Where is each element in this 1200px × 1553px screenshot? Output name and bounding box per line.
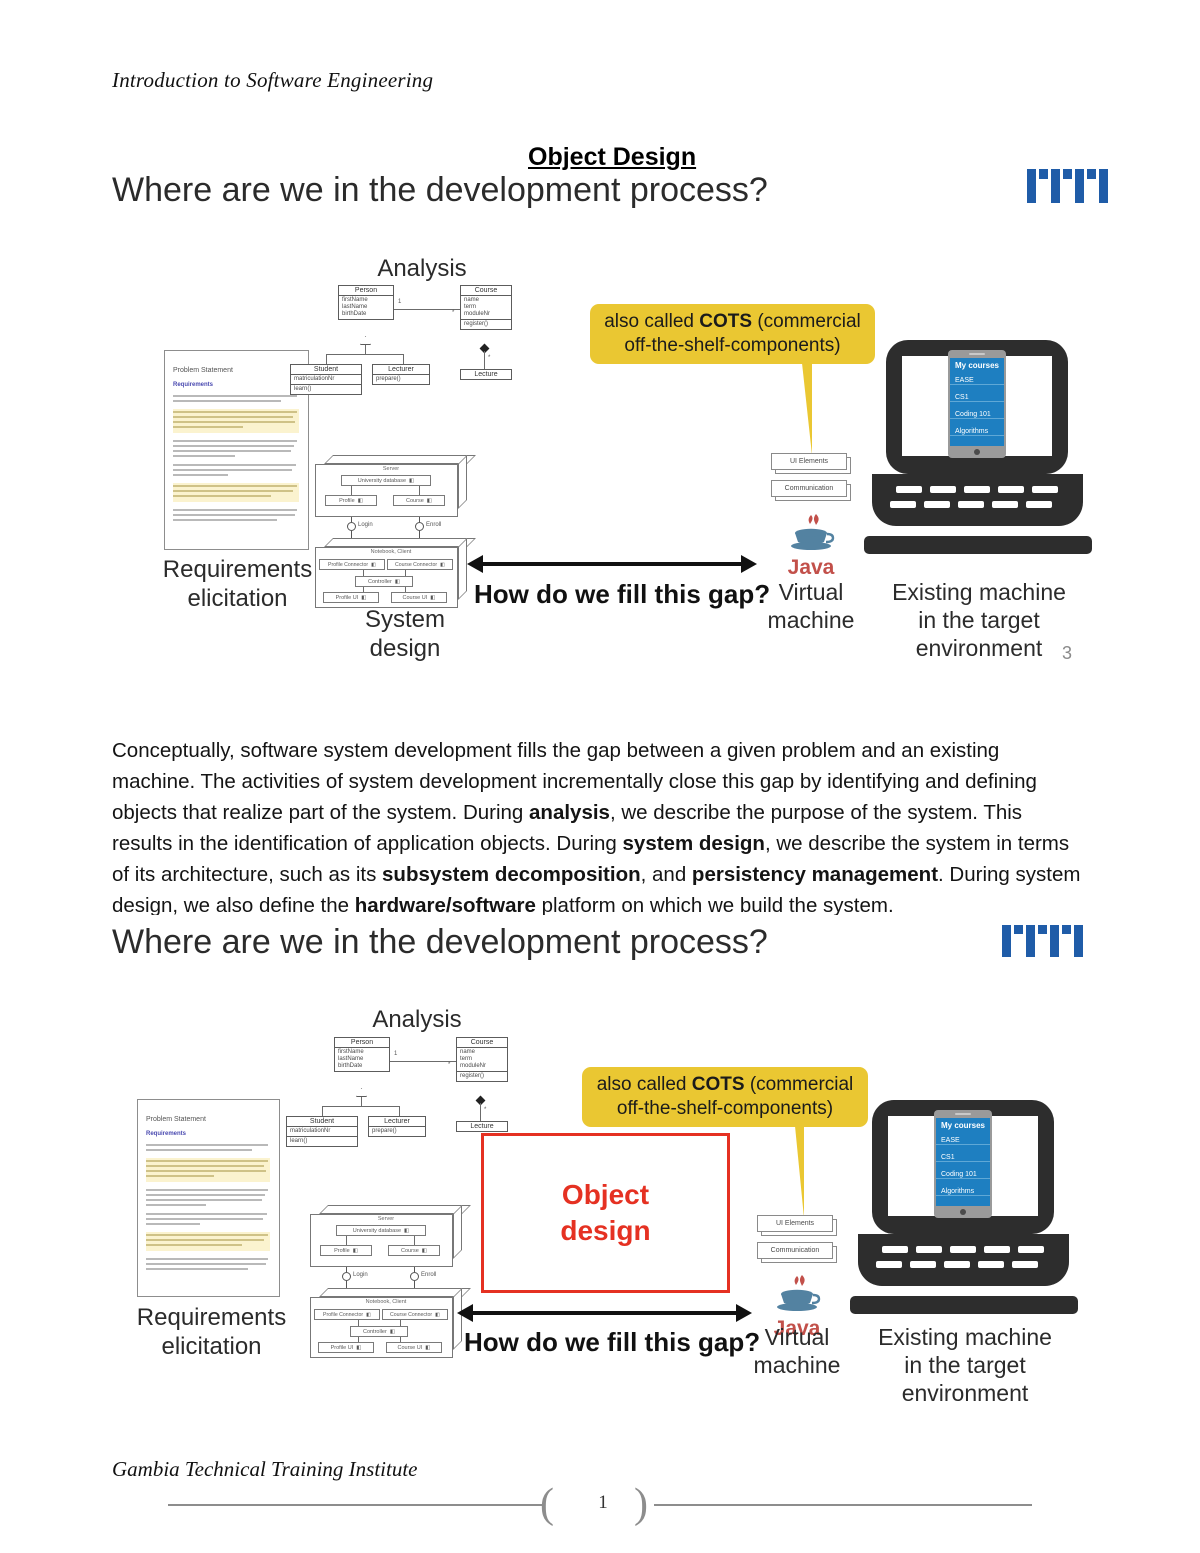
laptop-key bbox=[930, 486, 956, 493]
server-node-label: Server bbox=[315, 466, 467, 472]
uml-class-lecturer: Lecturer prepare() bbox=[368, 1116, 426, 1137]
interface-stem-lower bbox=[419, 531, 420, 538]
problem-statement-document: Problem Statement Requirements bbox=[164, 350, 309, 550]
generalization-leg-lecturer bbox=[403, 354, 404, 364]
class-operations: prepare() bbox=[369, 1127, 425, 1136]
java-wordmark: Java bbox=[774, 556, 848, 580]
component-profile: Profile ◧ bbox=[325, 495, 377, 506]
laptop-key bbox=[998, 486, 1024, 493]
problem-statement-body bbox=[146, 1144, 270, 1277]
communication-stack-2: Communication bbox=[757, 1242, 837, 1264]
laptop-key bbox=[1026, 501, 1052, 508]
callout-pre: also called bbox=[604, 311, 699, 332]
generalization-triangle bbox=[356, 1088, 367, 1097]
attr: term bbox=[464, 304, 508, 311]
dep-link-pc-ctrl bbox=[358, 1320, 359, 1326]
document-page: Introduction to Software Engineering Obj… bbox=[0, 0, 1200, 1553]
generalization-triangle bbox=[360, 336, 371, 345]
component-course-connector: Course Connector ◧ bbox=[387, 559, 453, 570]
page-fold-corner bbox=[257, 1100, 279, 1122]
caption-line-2: machine bbox=[747, 1351, 847, 1379]
op: learn() bbox=[290, 1138, 354, 1145]
caption-line-2: in the target environment bbox=[840, 1351, 1090, 1407]
class-name: Person bbox=[339, 286, 393, 296]
deployment-node-client: Notebook, Client Profile Connector ◧ Cou… bbox=[315, 538, 467, 608]
phone-course-row: CS1 bbox=[936, 1154, 990, 1162]
java-cup-icon bbox=[774, 509, 848, 555]
dep-link-cc-ctrl bbox=[405, 570, 406, 576]
dep-link-ctrl-pui bbox=[363, 587, 364, 592]
class-name: Course bbox=[461, 286, 511, 296]
attr: name bbox=[460, 1049, 504, 1056]
callout-tail bbox=[802, 363, 812, 455]
problem-statement-subtitle: Requirements bbox=[173, 382, 213, 388]
component-label: Course bbox=[401, 1248, 419, 1254]
interface-stem-lower bbox=[351, 531, 352, 538]
component-label: Course bbox=[406, 498, 424, 504]
caption-line-2: machine bbox=[761, 606, 861, 634]
provided-interface-icon: ◧ bbox=[358, 498, 363, 504]
component-course-connector: Course Connector ◧ bbox=[382, 1309, 448, 1320]
existing-machine-caption-2: Existing machine in the target environme… bbox=[840, 1323, 1090, 1407]
class-operations: prepare() bbox=[373, 375, 429, 384]
callout-strong: COTS bbox=[699, 311, 752, 332]
provided-interface-icon: ◧ bbox=[409, 478, 414, 484]
running-header: Introduction to Software Engineering bbox=[112, 68, 433, 93]
attr: lastName bbox=[338, 1056, 386, 1063]
virtual-machine-caption-2: Virtual machine bbox=[747, 1323, 847, 1379]
class-attributes: firstName lastName birthDate bbox=[339, 296, 393, 319]
node-top-face bbox=[324, 455, 476, 464]
caption-line-2: design bbox=[310, 634, 500, 663]
footer-brace-left: ( bbox=[540, 1483, 554, 1525]
attr: moduleNr bbox=[460, 1063, 504, 1070]
stack-front: UI Elements bbox=[757, 1215, 833, 1232]
emphasis-term: subsystem decomposition bbox=[382, 863, 641, 886]
interface-stem-lower bbox=[414, 1281, 415, 1288]
object-design-box: Object design bbox=[481, 1133, 730, 1293]
problem-statement-subtitle: Requirements bbox=[146, 1131, 186, 1137]
arrow-shaft bbox=[471, 1311, 738, 1315]
laptop-illustration-2: My courses EASE CS1 Coding 101 Algorithm… bbox=[850, 1100, 1078, 1330]
callout-tail-2 bbox=[795, 1126, 804, 1218]
phone-screen: My courses EASE CS1 Coding 101 Algorithm… bbox=[950, 358, 1004, 446]
attr: name bbox=[464, 297, 508, 304]
dep-link-ctrl-cui bbox=[405, 587, 406, 592]
java-logo: Java bbox=[774, 509, 848, 580]
component-label: University database bbox=[358, 478, 406, 484]
laptop-base-top bbox=[858, 1234, 1069, 1286]
dep-link-pc-ctrl bbox=[363, 570, 364, 576]
footer-brace-right: ) bbox=[634, 1483, 648, 1525]
uml-class-lecture: Lecture bbox=[460, 369, 512, 380]
laptop-key bbox=[984, 1246, 1010, 1253]
laptop-key bbox=[1018, 1246, 1044, 1253]
component-profile-connector: Profile Connector ◧ bbox=[319, 559, 385, 570]
uml-class-person: Person firstName lastName birthDate bbox=[338, 285, 394, 320]
phone-course-row: Algorithms bbox=[936, 1188, 990, 1196]
interface-ball bbox=[415, 522, 424, 531]
component-profile-connector: Profile Connector ◧ bbox=[314, 1309, 380, 1320]
stack-front: Communication bbox=[771, 480, 847, 497]
component-label: Controller bbox=[368, 579, 392, 585]
composition-line bbox=[484, 351, 485, 369]
callout-strong: COTS bbox=[692, 1074, 745, 1095]
multiplicity-star: * bbox=[448, 1062, 450, 1068]
provided-interface-icon: ◧ bbox=[395, 579, 400, 585]
provided-interface-icon: ◧ bbox=[353, 1248, 358, 1254]
component-course-ui: Course UI ◧ bbox=[391, 592, 447, 603]
class-attributes: matriculationNr bbox=[287, 1127, 357, 1136]
multiplicity-star-2: * bbox=[488, 355, 490, 361]
dep-link-db-course bbox=[419, 486, 420, 495]
node-side-face bbox=[458, 538, 467, 600]
java-cup-icon bbox=[760, 1270, 834, 1316]
attr: firstName bbox=[342, 297, 390, 304]
laptop-key bbox=[882, 1246, 908, 1253]
component-course-ui: Course UI ◧ bbox=[386, 1342, 442, 1353]
attr: term bbox=[460, 1056, 504, 1063]
laptop-key bbox=[978, 1261, 1004, 1268]
component-label: University database bbox=[353, 1228, 401, 1234]
interface-label: Login bbox=[358, 522, 373, 528]
component-profile-ui: Profile UI ◧ bbox=[323, 592, 379, 603]
provided-interface-icon: ◧ bbox=[435, 1312, 440, 1318]
laptop-base-top bbox=[872, 474, 1083, 526]
component-controller: Controller ◧ bbox=[355, 576, 413, 587]
interface-ball bbox=[342, 1272, 351, 1281]
node-side-face bbox=[458, 455, 467, 509]
gap-arrow bbox=[467, 555, 757, 577]
footer-page-number: 1 bbox=[590, 1492, 616, 1514]
attr: matriculationNr bbox=[294, 376, 358, 383]
phone-home-button bbox=[974, 449, 980, 455]
cots-callout: also called COTS (commercial off-the-she… bbox=[590, 304, 875, 364]
phone-speaker bbox=[969, 353, 985, 355]
provided-interface-icon: ◧ bbox=[422, 1248, 427, 1254]
requirements-elicitation-caption-2: Requirements elicitation bbox=[104, 1303, 319, 1362]
component-university-database: University database ◧ bbox=[341, 475, 431, 486]
op: register() bbox=[464, 321, 508, 328]
gap-question-text: How do we fill this gap? bbox=[474, 579, 770, 610]
association-person-course bbox=[394, 309, 460, 310]
laptop-key bbox=[890, 501, 916, 508]
interface-ball bbox=[410, 1272, 419, 1281]
association-person-course bbox=[390, 1061, 456, 1062]
uml-class-person: Person firstName lastName birthDate bbox=[334, 1037, 390, 1072]
node-side-face bbox=[453, 1205, 462, 1259]
provided-interface-icon: ◧ bbox=[440, 562, 445, 568]
interface-ball bbox=[347, 522, 356, 531]
slide-1-page-number: 3 bbox=[1062, 643, 1072, 664]
gap-arrow-2 bbox=[457, 1304, 752, 1326]
phone-course-row: Algorithms bbox=[950, 428, 1004, 436]
phone-app-title: My courses bbox=[936, 1121, 990, 1130]
dep-link-ctrl-cui bbox=[400, 1337, 401, 1342]
deployment-node-server: Server University database ◧ Profile ◧ C… bbox=[315, 455, 467, 517]
provided-interface-icon: ◧ bbox=[390, 1329, 395, 1335]
cots-callout-text: also called COTS (commercial off-the-she… bbox=[600, 310, 865, 358]
stack-front: Communication bbox=[757, 1242, 833, 1259]
provided-interface-icon: ◧ bbox=[361, 595, 366, 601]
laptop-base-bar bbox=[850, 1296, 1078, 1314]
body-text: , and bbox=[641, 863, 692, 886]
smartphone: My courses EASE CS1 Coding 101 Algorithm… bbox=[948, 350, 1006, 458]
server-node-label: Server bbox=[310, 1216, 462, 1222]
attr: moduleNr bbox=[464, 311, 508, 318]
footer-rule-right bbox=[654, 1504, 1032, 1506]
slide-2-title: Where are we in the development process? bbox=[112, 923, 768, 962]
cots-callout-text: also called COTS (commercial off-the-she… bbox=[592, 1073, 858, 1121]
system-design-caption: System design bbox=[310, 605, 500, 664]
component-course: Course ◧ bbox=[393, 495, 445, 506]
generalization-leg-lecturer bbox=[399, 1106, 400, 1116]
class-name: Lecture bbox=[457, 1122, 507, 1131]
provided-interface-icon: ◧ bbox=[366, 1312, 371, 1318]
multiplicity-1: 1 bbox=[398, 299, 401, 305]
laptop-key bbox=[916, 1246, 942, 1253]
class-operations: learn() bbox=[287, 1136, 357, 1146]
slide-1-title: Where are we in the development process? bbox=[112, 171, 768, 210]
phone-home-button bbox=[960, 1209, 966, 1215]
attr: birthDate bbox=[338, 1063, 386, 1070]
dep-link-db-course bbox=[414, 1236, 415, 1245]
component-profile: Profile ◧ bbox=[320, 1245, 372, 1256]
attr: lastName bbox=[342, 304, 390, 311]
component-label: Profile UI bbox=[331, 1345, 354, 1351]
provided-interface-icon: ◧ bbox=[356, 1345, 361, 1351]
generalization-bar bbox=[322, 1106, 400, 1107]
class-name: Lecturer bbox=[373, 365, 429, 375]
op: register() bbox=[460, 1073, 504, 1080]
caption-line-1: Existing machine bbox=[854, 578, 1104, 606]
component-label: Profile UI bbox=[336, 595, 359, 601]
component-label: Profile Connector bbox=[328, 562, 368, 568]
ui-elements-stack-2: UI Elements bbox=[757, 1215, 837, 1237]
class-operations: register() bbox=[461, 319, 511, 329]
emphasis-term: persistency management bbox=[692, 863, 938, 886]
analysis-label-2: Analysis bbox=[337, 1005, 497, 1034]
slide-2: Where are we in the development process?… bbox=[112, 915, 1088, 1395]
uml-class-lecture: Lecture bbox=[456, 1121, 508, 1132]
dep-link-cc-ctrl bbox=[400, 1320, 401, 1326]
emphasis-term: analysis bbox=[529, 801, 610, 824]
dep-link-ctrl-pui bbox=[358, 1337, 359, 1342]
phone-course-row: CS1 bbox=[950, 394, 1004, 402]
deployment-node-server: Server University database ◧ Profile ◧ C… bbox=[310, 1205, 462, 1267]
class-attributes: firstName lastName birthDate bbox=[335, 1048, 389, 1071]
caption-line-1: Existing machine bbox=[840, 1323, 1090, 1351]
laptop-key bbox=[1032, 486, 1058, 493]
component-label: Course UI bbox=[398, 1345, 423, 1351]
generalization-stem bbox=[361, 1097, 362, 1106]
phone-course-row: EASE bbox=[950, 377, 1004, 385]
interface-label: Enroll bbox=[421, 1272, 436, 1278]
problem-statement-document-2: Problem Statement Requirements bbox=[137, 1099, 280, 1297]
tum-logo-2 bbox=[1002, 925, 1083, 957]
arrow-shaft bbox=[481, 562, 743, 566]
interface-label: Login bbox=[353, 1272, 368, 1278]
component-course: Course ◧ bbox=[388, 1245, 440, 1256]
dep-link-db-profile bbox=[351, 486, 352, 495]
component-controller: Controller ◧ bbox=[350, 1326, 408, 1337]
laptop-key bbox=[958, 501, 984, 508]
object-design-label: Object design bbox=[560, 1177, 650, 1250]
caption-line-1: System bbox=[310, 605, 500, 634]
callout-pre: also called bbox=[597, 1074, 692, 1095]
node-top-face bbox=[324, 538, 476, 547]
uml-class-student: Student matriculationNr learn() bbox=[286, 1116, 358, 1147]
caption-line-1: Virtual bbox=[761, 578, 861, 606]
uml-class-course: Course name term moduleNr register() bbox=[460, 285, 512, 330]
class-operations: register() bbox=[457, 1071, 507, 1081]
laptop-key bbox=[992, 501, 1018, 508]
component-university-database: University database ◧ bbox=[336, 1225, 426, 1236]
op: learn() bbox=[294, 386, 358, 393]
caption-line-2: elicitation bbox=[104, 1332, 319, 1361]
communication-stack: Communication bbox=[771, 480, 851, 502]
emphasis-term: hardware/software bbox=[355, 894, 536, 917]
virtual-machine-caption: Virtual machine bbox=[761, 578, 861, 634]
provided-interface-icon: ◧ bbox=[371, 562, 376, 568]
analysis-label: Analysis bbox=[342, 254, 502, 283]
problem-statement-body bbox=[173, 395, 299, 528]
component-label: Profile bbox=[339, 498, 355, 504]
laptop-key bbox=[944, 1261, 970, 1268]
deployment-node-client: Notebook, Client Profile Connector ◧ Cou… bbox=[310, 1288, 462, 1358]
component-label: Profile bbox=[334, 1248, 350, 1254]
node-top-face bbox=[319, 1205, 471, 1214]
generalization-leg-student bbox=[326, 354, 327, 364]
uml-class-diagram: Person firstName lastName birthDate Cour… bbox=[312, 285, 572, 425]
phone-speaker bbox=[955, 1113, 971, 1115]
client-node-label: Notebook, Client bbox=[310, 1299, 462, 1305]
phone-course-row: Coding 101 bbox=[936, 1171, 990, 1179]
provided-interface-icon: ◧ bbox=[427, 498, 432, 504]
component-label: Controller bbox=[363, 1329, 387, 1335]
cots-callout-2: also called COTS (commercial off-the-she… bbox=[582, 1067, 868, 1127]
component-label: Profile Connector bbox=[323, 1312, 363, 1318]
tum-logo bbox=[1027, 169, 1108, 203]
composition-line bbox=[480, 1103, 481, 1121]
component-label: Course Connector bbox=[395, 562, 437, 568]
component-label: Course UI bbox=[403, 595, 428, 601]
slide-1-overtitle: Object Design bbox=[528, 143, 696, 172]
op: prepare() bbox=[376, 376, 426, 383]
node-top-face bbox=[319, 1288, 471, 1297]
uml-class-student: Student matriculationNr learn() bbox=[290, 364, 362, 395]
smartphone: My courses EASE CS1 Coding 101 Algorithm… bbox=[934, 1110, 992, 1218]
class-name: Student bbox=[291, 365, 361, 375]
laptop-key bbox=[950, 1246, 976, 1253]
uml-class-lecturer: Lecturer prepare() bbox=[372, 364, 430, 385]
dep-link-db-profile bbox=[346, 1236, 347, 1245]
interface-label: Enroll bbox=[426, 522, 441, 528]
laptop-key bbox=[924, 501, 950, 508]
laptop-key bbox=[876, 1261, 902, 1268]
generalization-stem bbox=[365, 345, 366, 354]
laptop-key bbox=[910, 1261, 936, 1268]
ui-elements-stack: UI Elements bbox=[771, 453, 851, 475]
footer-institute-name: Gambia Technical Training Institute bbox=[112, 1457, 417, 1482]
client-node-label: Notebook, Client bbox=[315, 549, 467, 555]
class-name: Student bbox=[287, 1117, 357, 1127]
multiplicity-star-2: * bbox=[484, 1107, 486, 1113]
provided-interface-icon: ◧ bbox=[425, 1345, 430, 1351]
gap-question-text-2: How do we fill this gap? bbox=[464, 1327, 760, 1358]
laptop-base-bar bbox=[864, 536, 1092, 554]
generalization-leg-student bbox=[322, 1106, 323, 1116]
provided-interface-icon: ◧ bbox=[404, 1228, 409, 1234]
body-paragraph: Conceptually, software system developmen… bbox=[112, 735, 1088, 921]
stack-front: UI Elements bbox=[771, 453, 847, 470]
class-attributes: name term moduleNr bbox=[457, 1048, 507, 1071]
multiplicity-star: * bbox=[452, 310, 454, 316]
arrow-head-right bbox=[741, 555, 757, 573]
class-operations: learn() bbox=[291, 384, 361, 394]
slide-1: Object Design Where are we in the develo… bbox=[112, 135, 1088, 680]
phone-course-row: Coding 101 bbox=[950, 411, 1004, 419]
uml-class-course: Course name term moduleNr register() bbox=[456, 1037, 508, 1082]
class-name: Person bbox=[335, 1038, 389, 1048]
component-profile-ui: Profile UI ◧ bbox=[318, 1342, 374, 1353]
attr: matriculationNr bbox=[290, 1128, 354, 1135]
phone-screen: My courses EASE CS1 Coding 101 Algorithm… bbox=[936, 1118, 990, 1206]
caption-line-1: Virtual bbox=[747, 1323, 847, 1351]
problem-statement-title: Problem Statement bbox=[146, 1116, 206, 1123]
laptop-key bbox=[1012, 1261, 1038, 1268]
multiplicity-1: 1 bbox=[394, 1051, 397, 1057]
op: prepare() bbox=[372, 1128, 422, 1135]
class-name: Course bbox=[457, 1038, 507, 1048]
footer-rule-left bbox=[168, 1504, 543, 1506]
body-text: platform on which we build the system. bbox=[536, 894, 894, 917]
laptop-illustration: My courses EASE CS1 Coding 101 Algorithm… bbox=[864, 340, 1092, 570]
class-attributes: name term moduleNr bbox=[461, 296, 511, 319]
attr: birthDate bbox=[342, 311, 390, 318]
component-label: Course Connector bbox=[390, 1312, 432, 1318]
arrow-head-right bbox=[736, 1304, 752, 1322]
laptop-key bbox=[964, 486, 990, 493]
laptop-key bbox=[896, 486, 922, 493]
generalization-bar bbox=[326, 354, 404, 355]
caption-line-1: Requirements bbox=[104, 1303, 319, 1332]
phone-course-row: EASE bbox=[936, 1137, 990, 1145]
class-name: Lecture bbox=[461, 370, 511, 379]
provided-interface-icon: ◧ bbox=[430, 595, 435, 601]
attr: firstName bbox=[338, 1049, 386, 1056]
interface-stem-lower bbox=[346, 1281, 347, 1288]
emphasis-term: system design bbox=[623, 832, 765, 855]
caption-line-1: Requirements bbox=[130, 555, 345, 584]
problem-statement-title: Problem Statement bbox=[173, 367, 233, 374]
phone-app-title: My courses bbox=[950, 361, 1004, 370]
class-attributes: matriculationNr bbox=[291, 375, 361, 384]
class-name: Lecturer bbox=[369, 1117, 425, 1127]
